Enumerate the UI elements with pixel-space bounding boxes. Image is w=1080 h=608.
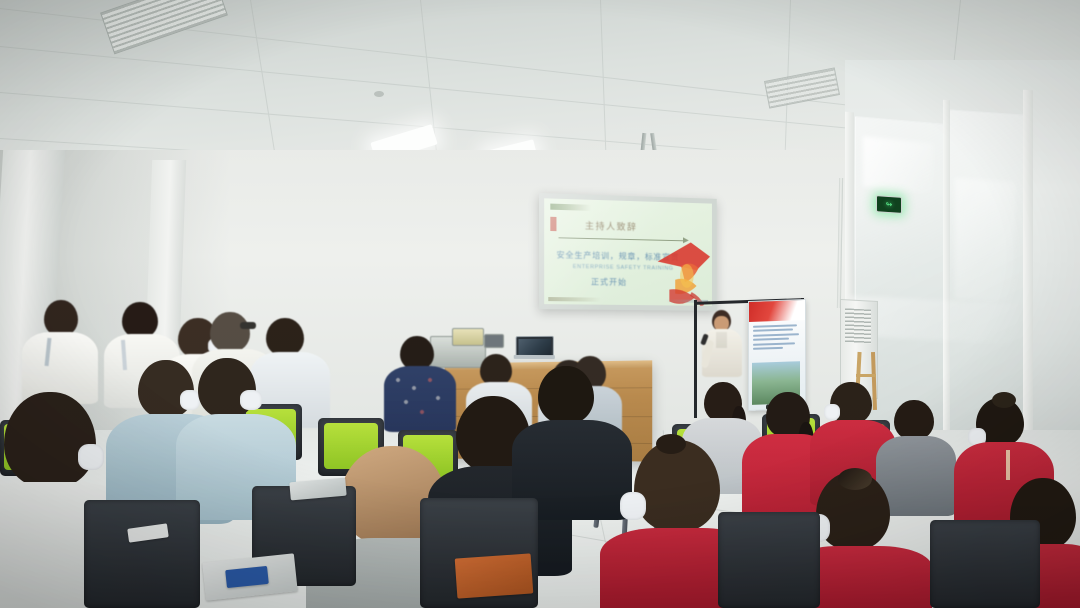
emergency-exit-sign: ↬ xyxy=(876,195,902,214)
slide-line-3: 正式开始 xyxy=(591,276,627,288)
presenter-laptop xyxy=(516,336,552,360)
av-equipment-box-3 xyxy=(484,334,504,348)
slide-logo xyxy=(550,204,591,211)
laptop-base xyxy=(514,355,555,359)
eyeglasses xyxy=(240,322,256,329)
exit-arrow-icon: ↬ xyxy=(886,200,893,208)
presentation-slide: 主持人致辞 安全生产培训，规章，标准宣贯 ENTERPRISE SAFETY T… xyxy=(544,198,712,306)
banner-frame-left xyxy=(694,300,697,418)
projection-screen: 主持人致辞 安全生产培训，规章，标准宣贯 ENTERPRISE SAFETY T… xyxy=(539,193,717,311)
slide-title: 主持人致辞 xyxy=(585,219,638,233)
smoke-detector xyxy=(374,91,384,97)
slide-graphic-icon xyxy=(652,236,712,306)
orange-folder xyxy=(455,553,534,598)
wooden-easel-rung xyxy=(856,374,876,377)
av-equipment-box-2 xyxy=(452,328,484,346)
ac-grille xyxy=(845,308,871,343)
slide-accent-bar xyxy=(550,217,556,231)
banner-header xyxy=(749,300,805,322)
training-room-photo: ↬ 主持人致辞 安全生产培训，规章，标准宣贯 ENTERPRISE SAFETY… xyxy=(0,0,1080,608)
slide-footer-left xyxy=(548,297,601,302)
